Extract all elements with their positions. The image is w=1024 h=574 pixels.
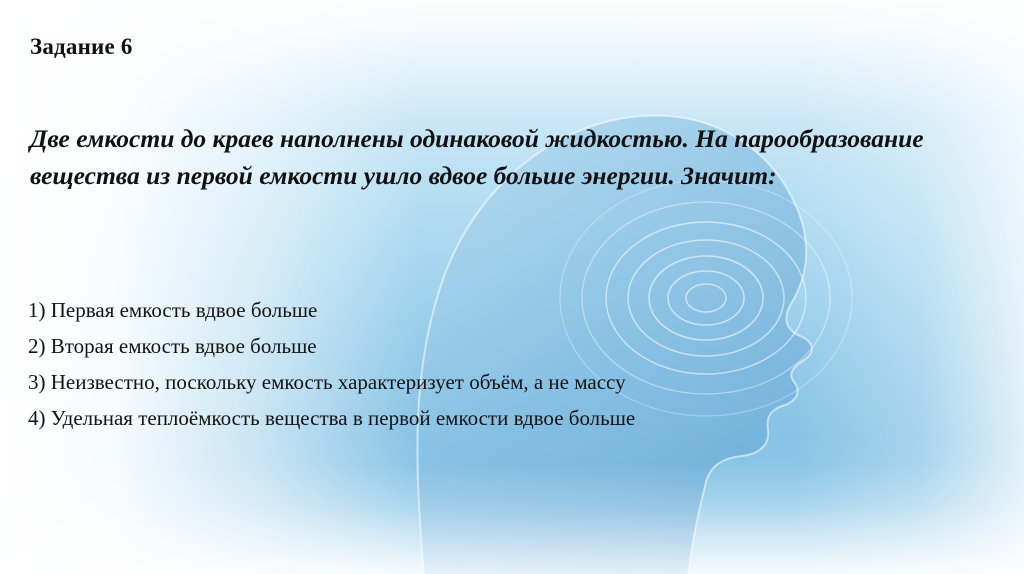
question-text: Две емкости до краев наполнены одинаково… [30, 120, 970, 194]
slide: Задание 6 Две емкости до краев наполнены… [0, 0, 1024, 574]
list-item: 3) Неизвестно, поскольку емкость характе… [28, 372, 988, 393]
list-item: 2) Вторая емкость вдвое больше [28, 336, 988, 357]
list-item: 1) Первая емкость вдвое больше [28, 300, 988, 321]
page-title: Задание 6 [30, 34, 133, 60]
list-item: 4) Удельная теплоёмкость вещества в перв… [28, 408, 988, 429]
answer-options-list: 1) Первая емкость вдвое больше 2) Вторая… [28, 300, 988, 444]
slide-content: Задание 6 Две емкости до краев наполнены… [0, 0, 1024, 574]
